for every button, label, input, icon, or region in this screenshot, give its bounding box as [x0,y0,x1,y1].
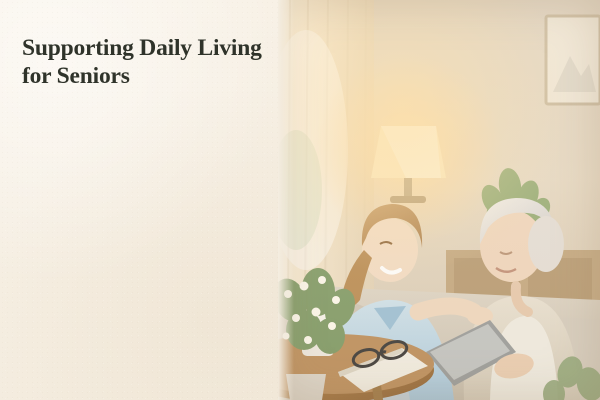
page-title-line-2: for Seniors [22,63,130,89]
page-title: Supporting Daily Living for Seniors [22,34,287,91]
living-room-scene-graphic [278,0,600,400]
infographic-canvas: Supporting Daily Living for Seniors Dail… [0,0,600,400]
page-title-line-1: Supporting Daily Living [22,35,262,61]
photo-illustration [278,0,600,400]
